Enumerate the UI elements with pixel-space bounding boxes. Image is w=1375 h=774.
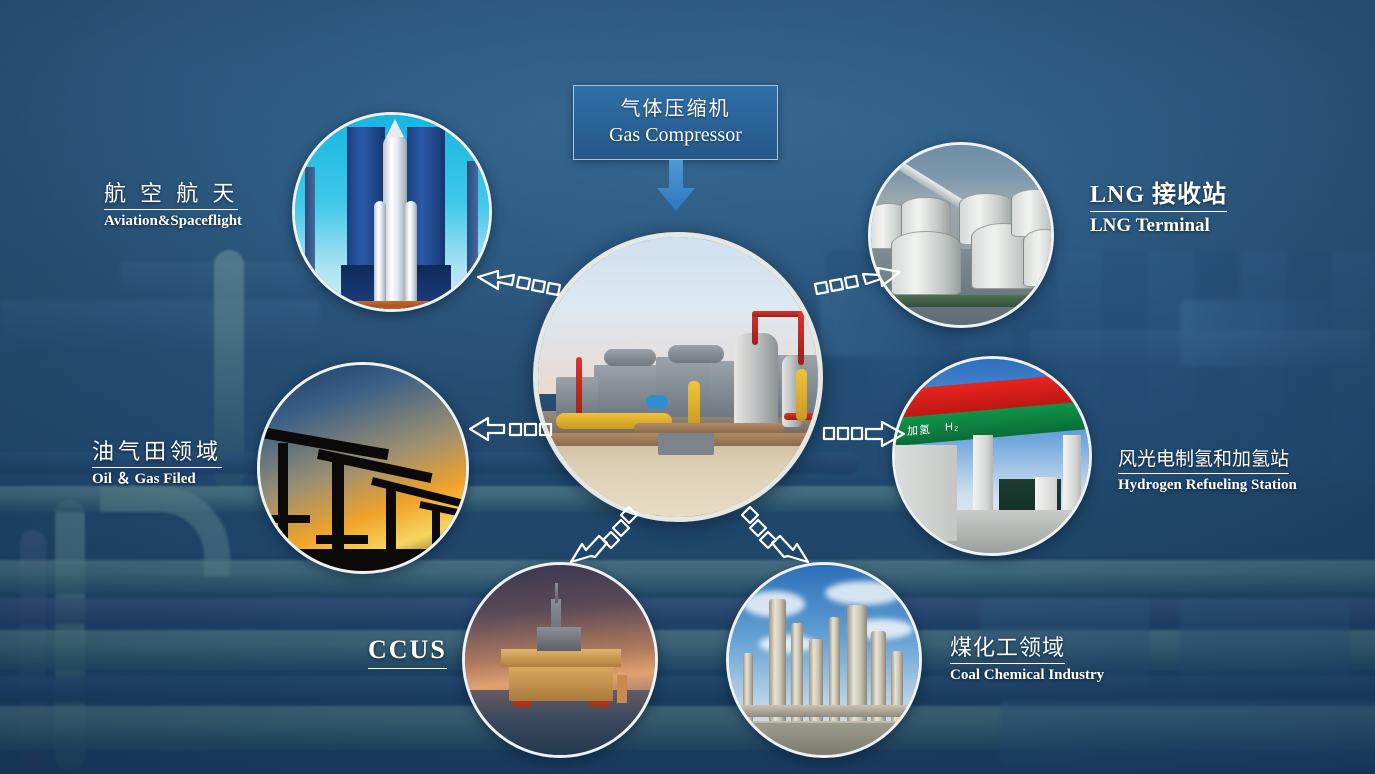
offshore-platform-photo <box>465 565 655 755</box>
label-coal-chemical: 煤化工领域 Coal Chemical Industry <box>950 634 1104 684</box>
arrow-to-lng <box>818 252 908 316</box>
diagram-title-cn: 气体压缩机 <box>621 98 731 121</box>
diagram-title-box: 气体压缩机 Gas Compressor <box>573 85 778 160</box>
node-aviation-spaceflight[interactable] <box>292 112 492 312</box>
node-oil-gas-field[interactable] <box>257 362 469 574</box>
arrow-to-aviation <box>472 255 562 317</box>
node-coal-chemical-industry[interactable] <box>726 562 922 758</box>
label-coal-chemical-en: Coal Chemical Industry <box>950 666 1104 685</box>
label-aviation-cn: 航 空 航 天 <box>104 180 238 210</box>
oil-pumpjack-photo <box>260 365 466 571</box>
label-coal-chemical-cn: 煤化工领域 <box>950 634 1065 664</box>
gas-compressor-station-photo <box>538 237 818 517</box>
arrow-to-hydrogen <box>826 412 910 460</box>
label-hydrogen-refueling-station: 风光电制氢和加氢站 Hydrogen Refueling Station <box>1118 448 1297 495</box>
label-lng-cn: LNG 接收站 <box>1090 180 1227 212</box>
label-ccus: CCUS <box>368 634 447 669</box>
diagram-title-en: Gas Compressor <box>609 123 742 147</box>
title-down-arrow-icon <box>655 160 697 212</box>
label-aviation-en: Aviation&Spaceflight <box>104 212 242 231</box>
label-hydrogen-cn: 风光电制氢和加氢站 <box>1118 448 1289 474</box>
label-lng-terminal: LNG 接收站 LNG Terminal <box>1090 180 1227 238</box>
label-hydrogen-en: Hydrogen Refueling Station <box>1118 476 1297 495</box>
infographic-canvas: 气体压缩机 Gas Compressor <box>0 0 1375 774</box>
arrow-to-ccus <box>565 496 637 578</box>
center-node-gas-compressor[interactable] <box>533 232 823 522</box>
node-ccus[interactable] <box>462 562 658 758</box>
node-hydrogen-refueling-station[interactable]: 加氢 H₂ <box>892 356 1092 556</box>
label-ccus-text: CCUS <box>368 634 447 669</box>
hydrogen-station-photo: 加氢 H₂ <box>895 359 1089 553</box>
label-oil-gas-field: 油气田领域 Oil ＆ Gas Filed <box>92 438 222 488</box>
label-oil-gas-en: Oil ＆ Gas Filed <box>92 470 222 489</box>
arrow-to-oil-gas <box>466 410 550 454</box>
arrow-to-coal-chemical <box>742 496 814 578</box>
hydrogen-sign-formula: H₂ <box>945 420 959 433</box>
label-aviation-spaceflight: 航 空 航 天 Aviation&Spaceflight <box>104 180 242 230</box>
hydrogen-sign-cn: 加氢 <box>907 421 931 439</box>
rocket-launch-photo <box>295 115 489 309</box>
label-lng-en: LNG Terminal <box>1090 214 1227 238</box>
coal-chemical-plant-photo <box>729 565 919 755</box>
label-oil-gas-cn: 油气田领域 <box>92 438 222 468</box>
